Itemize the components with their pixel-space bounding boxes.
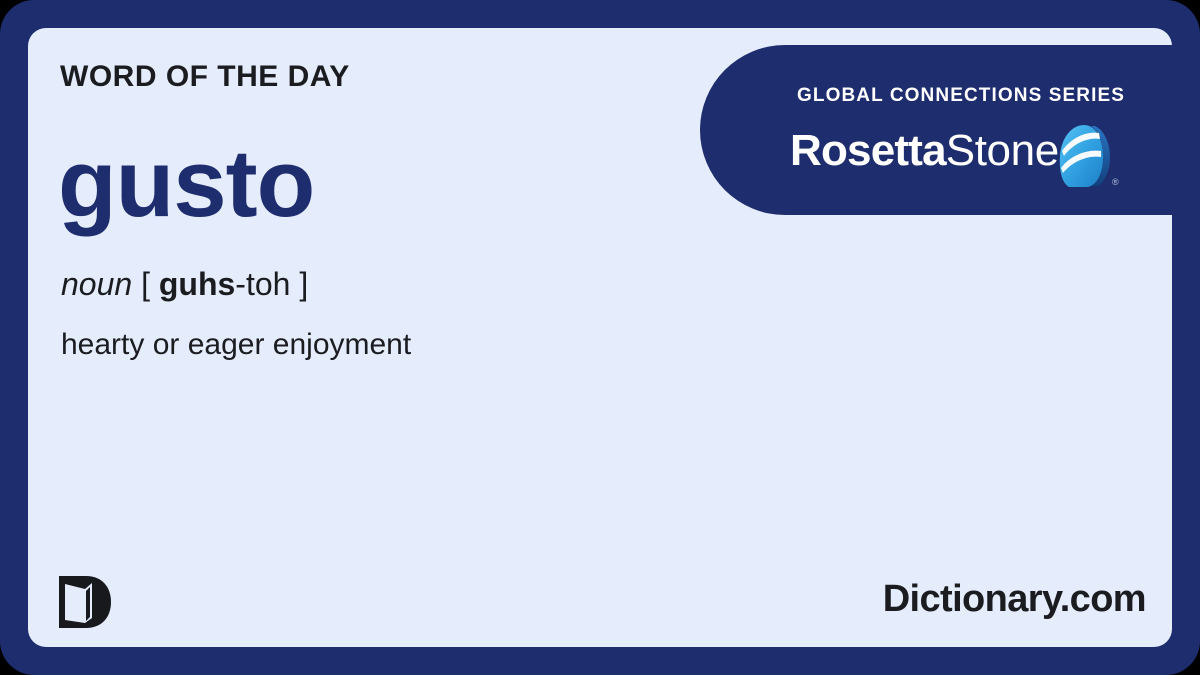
word-of-the-day-card: WORD OF THE DAY gusto noun [ guhs-toh ] … xyxy=(28,28,1172,647)
dictionary-d-icon xyxy=(56,573,114,631)
rosetta-stone-icon xyxy=(1055,123,1115,191)
rosetta-stone-wordmark: RosettaStone xyxy=(790,129,1059,173)
pronunciation-line: noun [ guhs-toh ] xyxy=(61,266,308,303)
headword: gusto xyxy=(58,136,314,232)
definition-text: hearty or eager enjoyment xyxy=(61,328,411,362)
word-of-the-day-label: WORD OF THE DAY xyxy=(60,60,350,94)
stressed-syllable: guhs xyxy=(159,266,235,302)
bracket-close: ] xyxy=(299,266,308,302)
rosetta-stone-wordmark-bold: Rosetta xyxy=(790,126,946,175)
bracket-open: [ xyxy=(141,266,150,302)
sponsor-badge: GLOBAL CONNECTIONS SERIES RosettaStone xyxy=(700,45,1172,215)
screenshot-canvas: WORD OF THE DAY gusto noun [ guhs-toh ] … xyxy=(0,0,1200,675)
badge-kicker-text: GLOBAL CONNECTIONS SERIES xyxy=(797,85,1125,107)
rosetta-stone-wordmark-light: Stone xyxy=(946,126,1059,175)
card-frame: WORD OF THE DAY gusto noun [ guhs-toh ] … xyxy=(0,0,1200,675)
registered-trademark-mark: ® xyxy=(1112,177,1119,187)
dictionary-com-wordmark: Dictionary.com xyxy=(883,578,1146,621)
pronunciation-rest: -toh xyxy=(235,266,290,302)
part-of-speech: noun xyxy=(61,266,132,302)
